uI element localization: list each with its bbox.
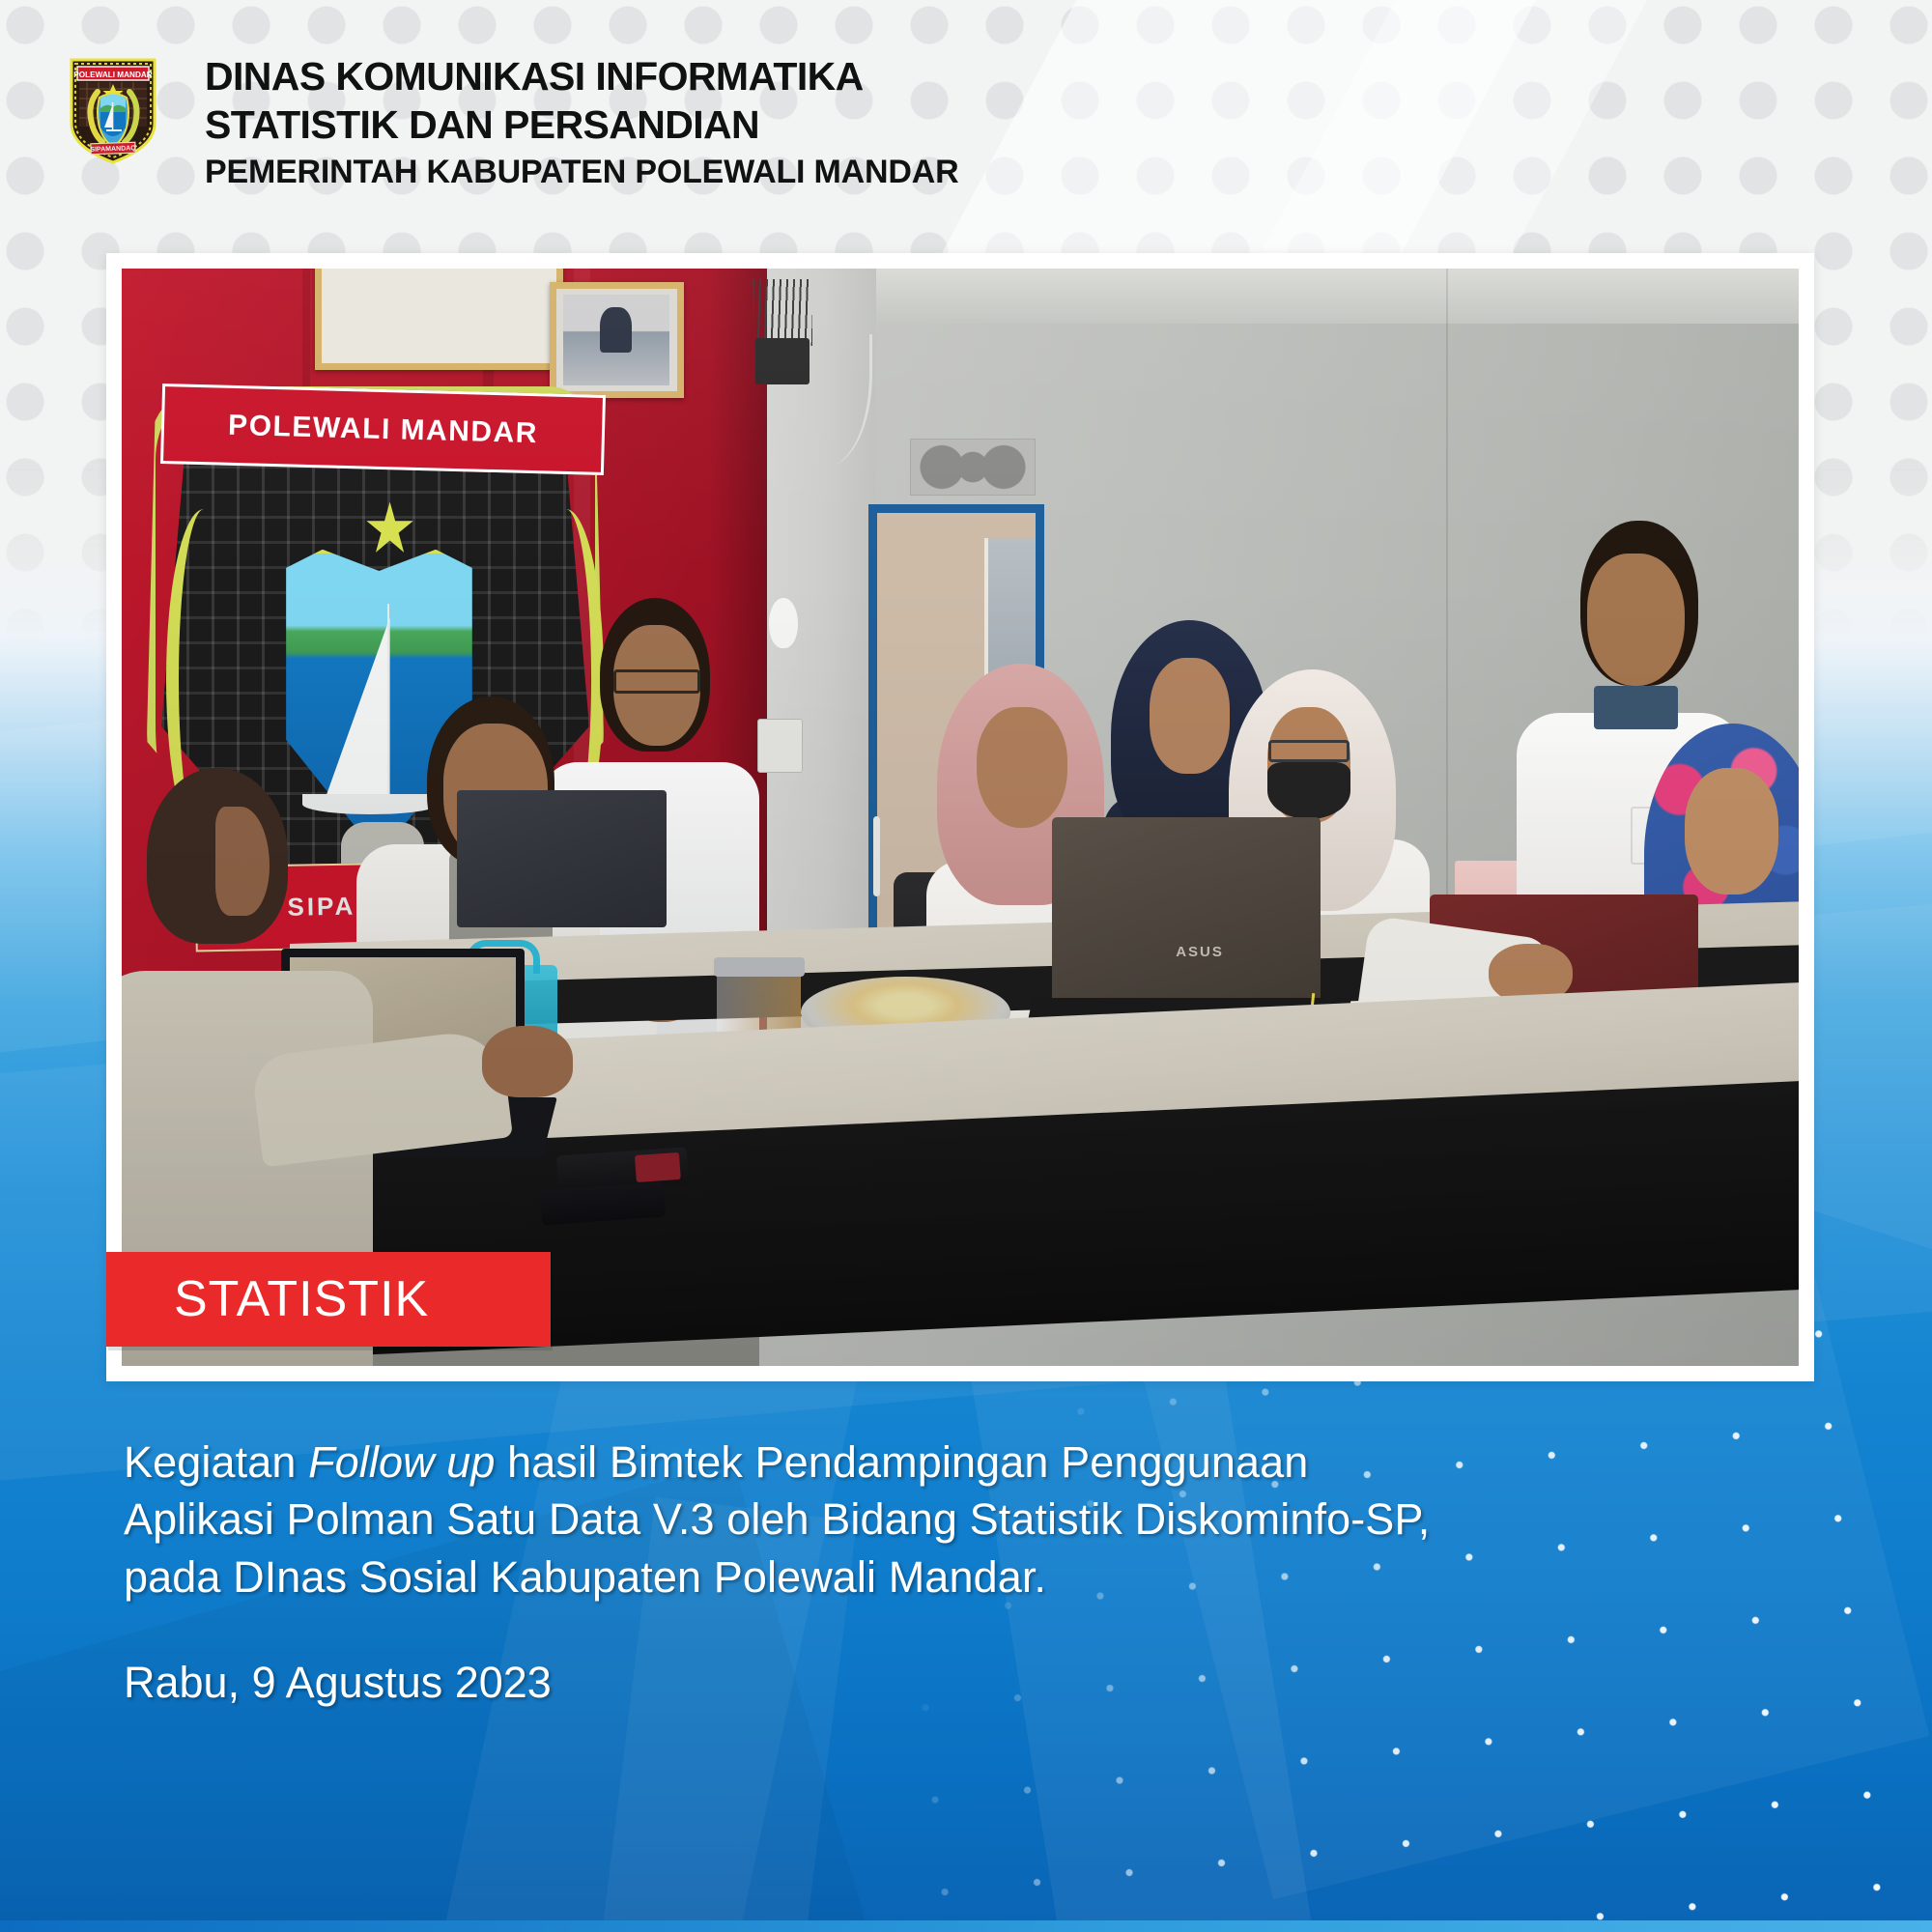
photo-card: POLEWALI MANDAR SIPAMANDAQ DINAS	[106, 253, 1814, 1381]
org-line-1: DINAS KOMUNIKASI INFORMATIKA	[205, 52, 958, 100]
event-date-text: Rabu, 9 Agustus 2023	[124, 1658, 552, 1708]
polewali-mandar-crest-icon: POLEWALI MANDAR SIPAMANDAQ	[66, 54, 160, 166]
caption-line-1-b: hasil Bimtek Pendampingan Penggunaan	[496, 1437, 1309, 1487]
poster-canvas: POLEWALI MANDAR SIPAMANDAQ	[0, 0, 1932, 1932]
header-bar: POLEWALI MANDAR SIPAMANDAQ	[0, 0, 1932, 208]
caption-line-1-emphasis: Follow up	[308, 1437, 496, 1487]
photo-scene: POLEWALI MANDAR SIPAMANDAQ DINAS	[122, 269, 1799, 1366]
caption-line-1: Kegiatan Follow up hasil Bimtek Pendampi…	[124, 1434, 1631, 1491]
status-badge-label: STATISTIK	[174, 1270, 429, 1328]
caption-line-3: pada DInas Sosial Kabupaten Polewali Man…	[124, 1548, 1631, 1605]
caption-line-1-a: Kegiatan	[124, 1437, 308, 1487]
photo-vignette	[122, 269, 1799, 1366]
organization-titles: DINAS KOMUNIKASI INFORMATIKA STATISTIK D…	[205, 52, 958, 193]
caption-block: Kegiatan Follow up hasil Bimtek Pendampi…	[124, 1434, 1631, 1605]
event-photograph: POLEWALI MANDAR SIPAMANDAQ DINAS	[122, 269, 1799, 1366]
org-line-2: STATISTIK DAN PERSANDIAN	[205, 100, 958, 149]
svg-text:POLEWALI MANDAR: POLEWALI MANDAR	[73, 71, 153, 79]
status-badge: STATISTIK	[106, 1252, 551, 1347]
event-date: Rabu, 9 Agustus 2023	[124, 1658, 552, 1708]
org-line-3: PEMERINTAH KABUPATEN POLEWALI MANDAR	[205, 151, 958, 193]
background-bottom-stripe	[0, 1920, 1932, 1932]
caption-line-2: Aplikasi Polman Satu Data V.3 oleh Bidan…	[124, 1491, 1631, 1548]
